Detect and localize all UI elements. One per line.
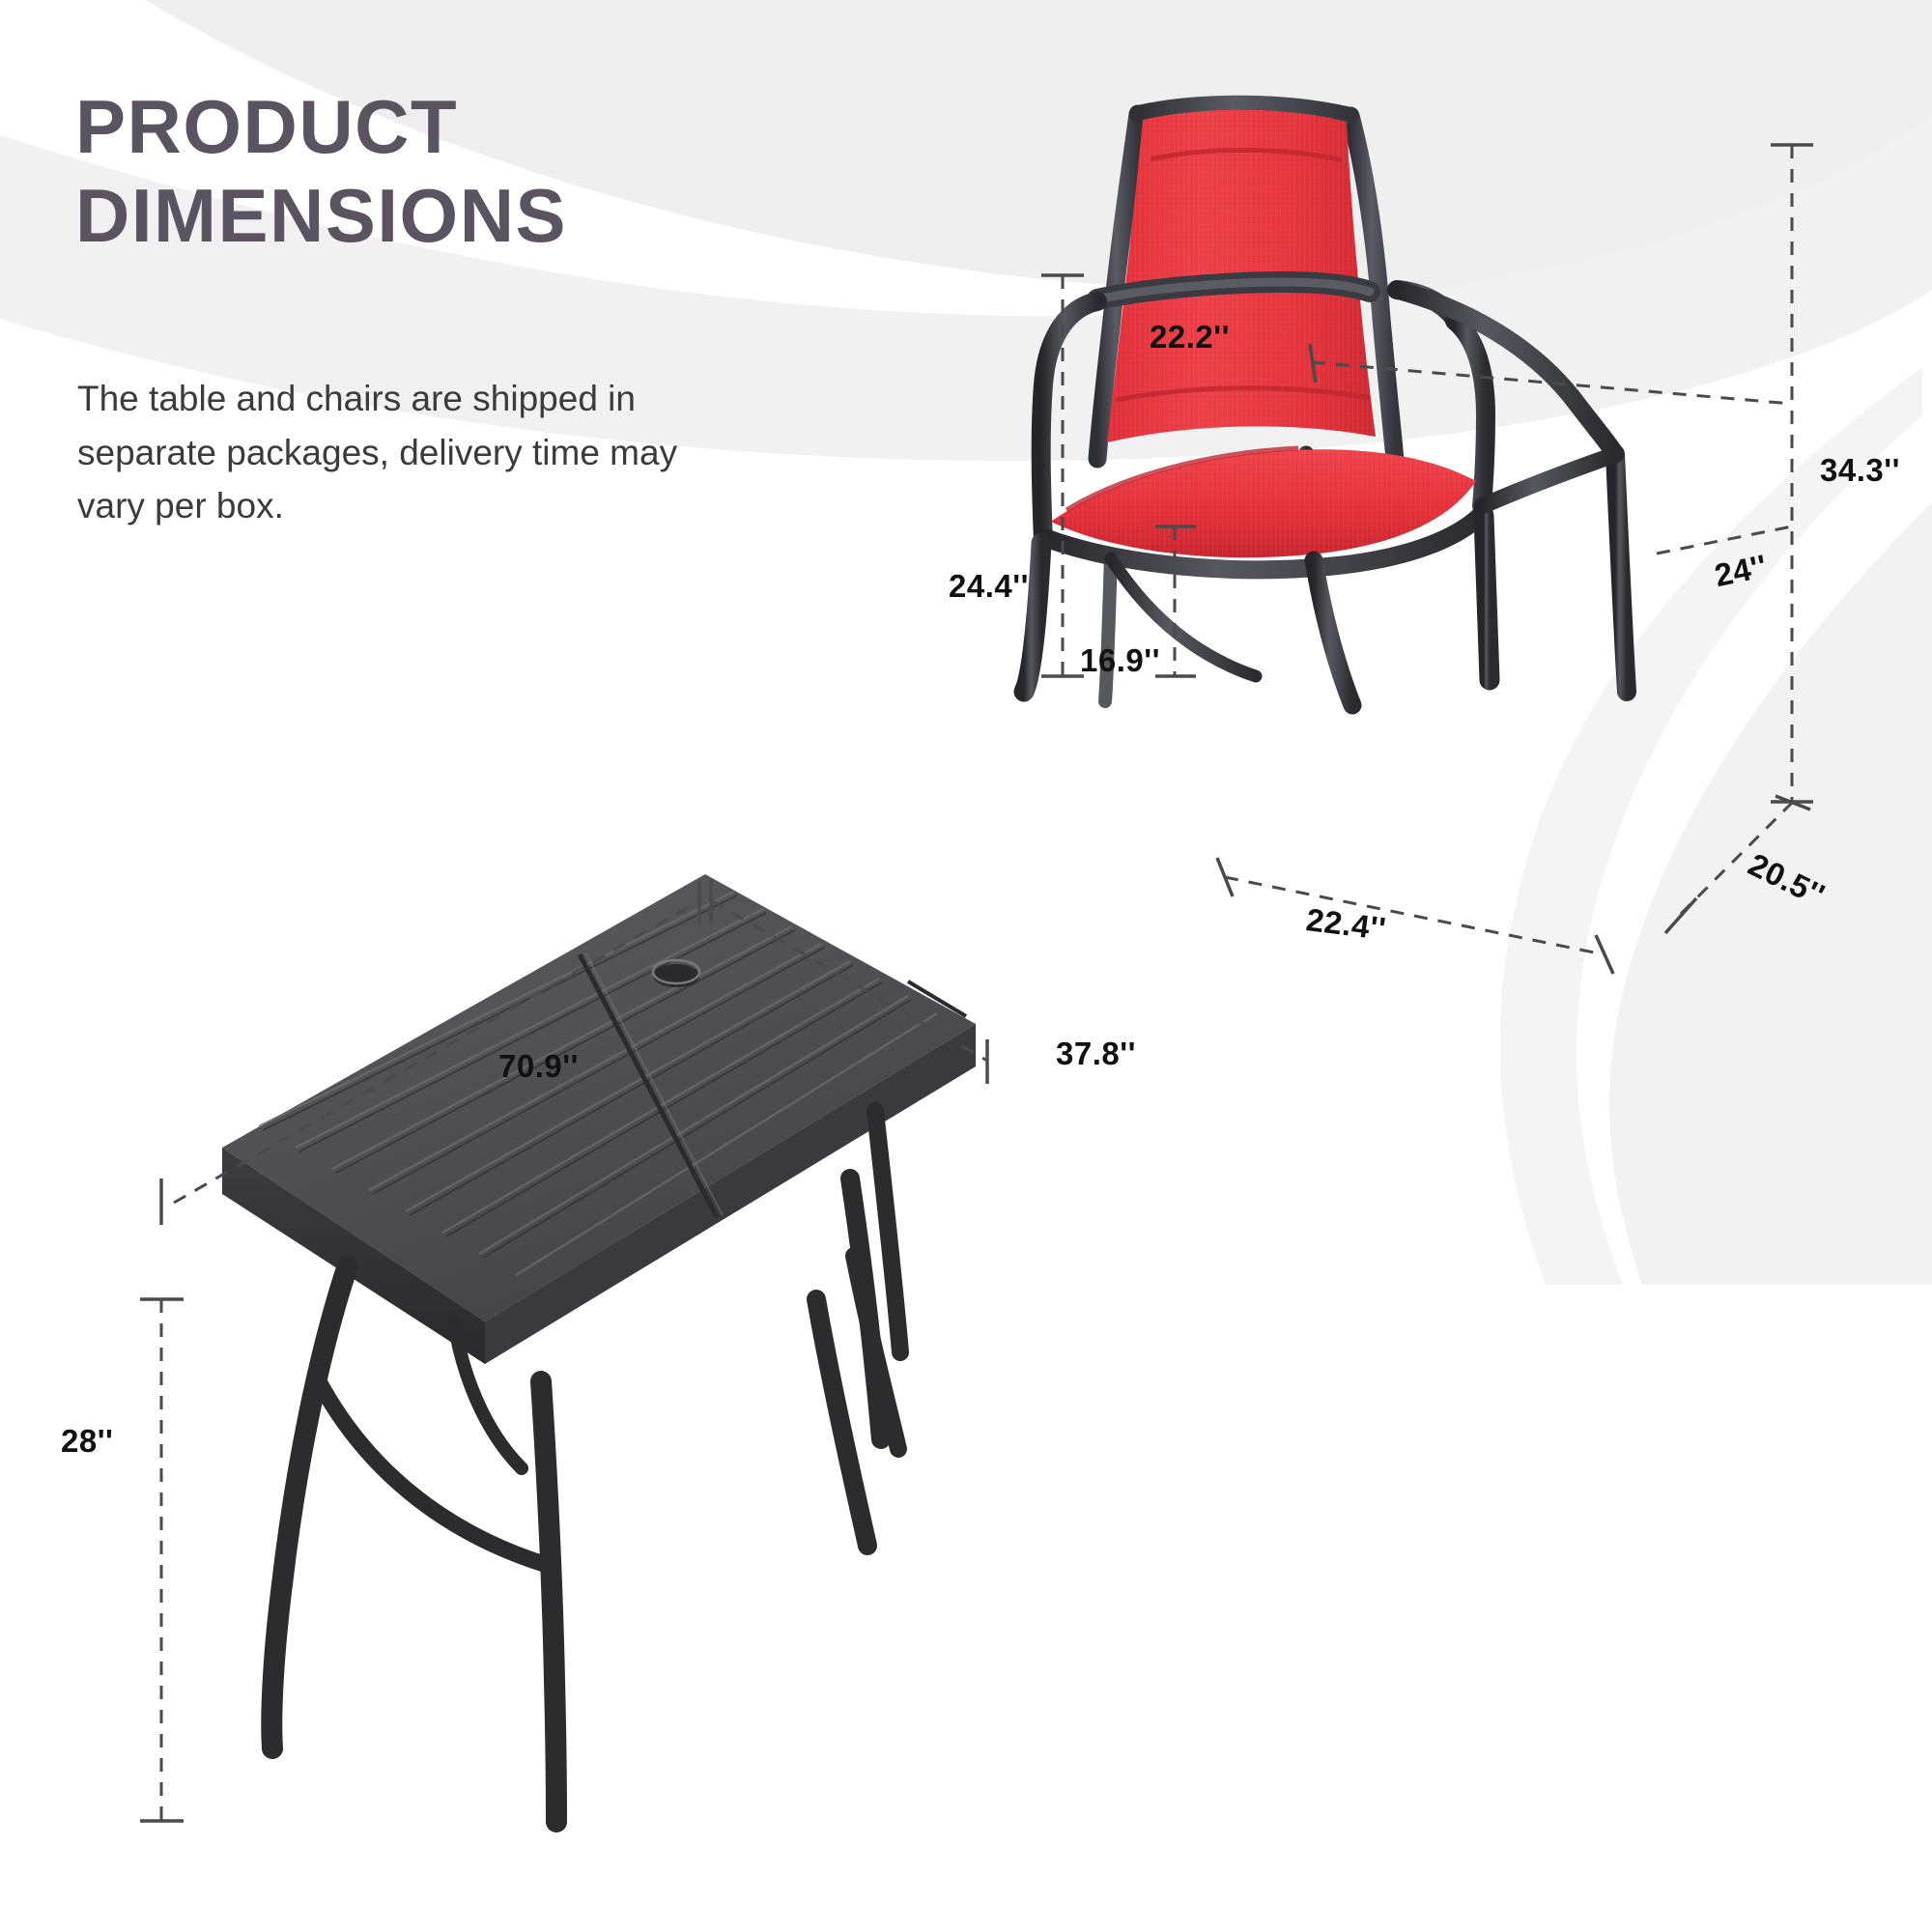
dimension-label-chair-backrest-width: 22.2'' — [1150, 319, 1230, 355]
page-title: PRODUCT DIMENSIONS — [75, 82, 567, 260]
dimension-label-table-length: 70.9'' — [498, 1048, 579, 1085]
description-text: The table and chairs are shipped in sepa… — [77, 372, 696, 533]
dimension-label-chair-total-height: 34.3'' — [1820, 452, 1900, 489]
page-title-line1: PRODUCT — [75, 84, 458, 169]
dimline-table-37-8 — [711, 900, 987, 1061]
page-title-line2: DIMENSIONS — [75, 171, 567, 260]
dimension-label-table-width: 37.8'' — [1056, 1036, 1136, 1072]
dimension-label-chair-seat-height: 16.9'' — [1080, 642, 1160, 679]
dimline-chair-24 — [1657, 526, 1792, 554]
dimline-chair-22-4 — [1225, 877, 1604, 954]
dimension-label-chair-seat-height-outer: 24.4'' — [949, 568, 1029, 605]
dimline-table-70-9 — [174, 903, 696, 1203]
dimline-chair-22-2 — [1312, 362, 1792, 404]
tick-chair-20-5-end — [1665, 898, 1696, 933]
dimension-label-table-height: 28'' — [61, 1423, 113, 1460]
infographic-canvas: PRODUCT DIMENSIONS The table and chairs … — [0, 0, 1932, 1932]
dimension-lines-layer — [0, 0, 1932, 1932]
tick-chair-22-4-right — [1596, 935, 1613, 974]
